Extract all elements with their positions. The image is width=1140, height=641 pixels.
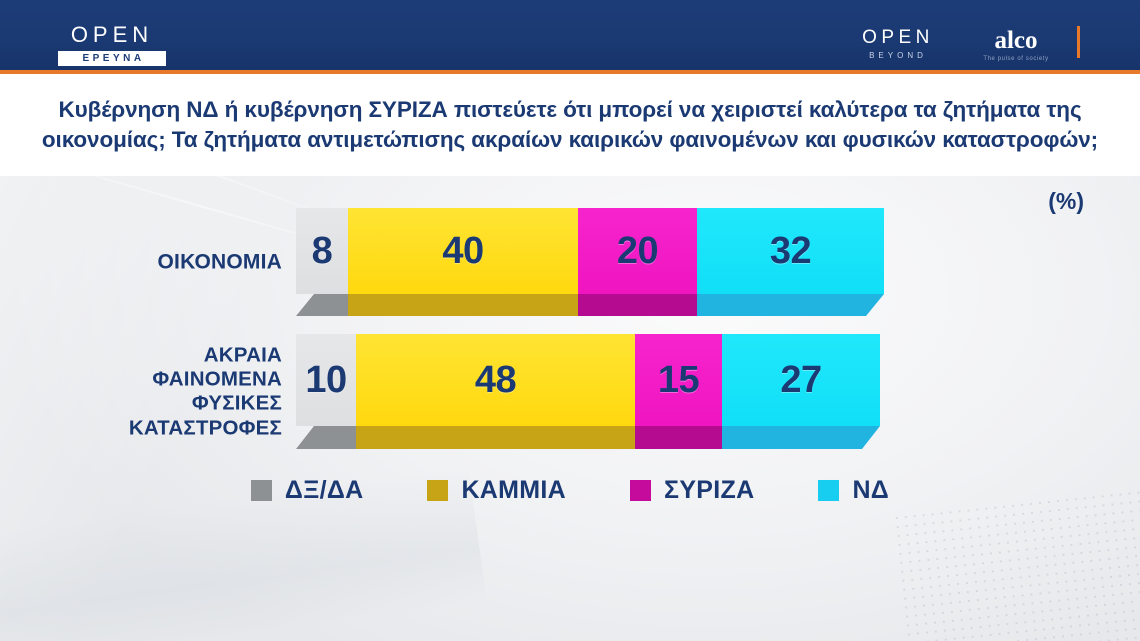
segment-dk-da[interactable]: 10 xyxy=(296,334,356,426)
legend-label: ΣΥΡΙΖΑ xyxy=(664,476,754,505)
segment-syriza[interactable]: 15 xyxy=(635,334,722,426)
segment-value: 10 xyxy=(305,359,346,402)
legend-swatch-icon xyxy=(427,480,448,501)
row-label-line: ΚΑΤΑΣΤΡΟΦΕΣ xyxy=(0,416,282,440)
chart-row: ΟΙΚΟΝΟΜΙΑ 8 40 20 32 xyxy=(0,208,1140,318)
infographic-canvas: OPEN ΕΡΕΥΝΑ OPEN BEYOND alco The pulse o… xyxy=(0,0,1140,641)
alco-tagline: The pulse of society xyxy=(964,56,1068,62)
segment-value: 40 xyxy=(442,230,483,273)
segment-value: 20 xyxy=(617,230,658,273)
segment-3d-face xyxy=(348,294,578,316)
legend-item-nd[interactable]: ΝΔ xyxy=(818,476,889,505)
open-erevna-brand: OPEN xyxy=(58,24,166,46)
segment-kammia[interactable]: 48 xyxy=(356,334,635,426)
legend-item-dk-da[interactable]: ΔΞ/ΔΑ xyxy=(251,476,364,505)
row-label-akraia-fainomena: ΑΚΡΑΙΑ ΦΑΙΝΟΜΕΝΑ ΦΥΣΙΚΕΣ ΚΑΤΑΣΤΡΟΦΕΣ xyxy=(0,344,282,441)
segment-dk-da[interactable]: 8 xyxy=(296,208,348,294)
title-band: Κυβέρνηση ΝΔ ή κυβέρνηση ΣΥΡΙΖΑ πιστεύετ… xyxy=(0,74,1140,176)
legend-label: ΝΔ xyxy=(852,476,889,505)
header-divider xyxy=(1077,26,1080,58)
alco-logo: alco The pulse of society xyxy=(964,28,1068,62)
segment-value: 32 xyxy=(770,230,811,273)
legend-swatch-icon xyxy=(630,480,651,501)
header-bar: OPEN ΕΡΕΥΝΑ OPEN BEYOND alco The pulse o… xyxy=(0,0,1140,70)
segment-syriza[interactable]: 20 xyxy=(578,208,697,294)
bar-akraia-fainomena: 10 48 15 27 xyxy=(296,334,880,426)
segment-value: 15 xyxy=(658,359,699,402)
segment-3d-face xyxy=(722,426,880,449)
legend-item-kammia[interactable]: ΚΑΜΜΙΑ xyxy=(427,476,566,505)
legend-swatch-icon xyxy=(818,480,839,501)
row-label-line: ΦΥΣΙΚΕΣ xyxy=(0,392,282,416)
segment-3d-face xyxy=(356,426,635,449)
bar-oikonomia: 8 40 20 32 xyxy=(296,208,884,294)
segment-3d-face xyxy=(578,294,697,316)
chart-row: ΑΚΡΑΙΑ ΦΑΙΝΟΜΕΝΑ ΦΥΣΙΚΕΣ ΚΑΤΑΣΤΡΟΦΕΣ 10 … xyxy=(0,334,1140,450)
open-beyond-logo: OPEN BEYOND xyxy=(838,28,958,60)
legend-label: ΔΞ/ΔΑ xyxy=(285,476,364,505)
segment-3d-face xyxy=(697,294,884,316)
legend-label: ΚΑΜΜΙΑ xyxy=(461,476,566,505)
open-erevna-logo: OPEN ΕΡΕΥΝΑ xyxy=(58,24,166,66)
row-label-line: ΦΑΙΝΟΜΕΝΑ xyxy=(0,368,282,392)
row-label-line: ΟΙΚΟΝΟΜΙΑ xyxy=(0,251,282,276)
segment-nd[interactable]: 32 xyxy=(697,208,884,294)
legend-swatch-icon xyxy=(251,480,272,501)
open-erevna-sublabel: ΕΡΕΥΝΑ xyxy=(58,51,166,66)
chart-legend: ΔΞ/ΔΑ ΚΑΜΜΙΑ ΣΥΡΙΖΑ ΝΔ xyxy=(0,476,1140,505)
alco-brand: alco xyxy=(964,28,1068,53)
legend-item-syriza[interactable]: ΣΥΡΙΖΑ xyxy=(630,476,754,505)
open-beyond-brand: OPEN xyxy=(838,28,958,47)
segment-kammia[interactable]: 40 xyxy=(348,208,578,294)
segment-nd[interactable]: 27 xyxy=(722,334,880,426)
stacked-bar-chart: (%) ΟΙΚΟΝΟΜΙΑ 8 40 20 xyxy=(0,176,1140,641)
segment-value: 27 xyxy=(780,359,821,402)
page-title: Κυβέρνηση ΝΔ ή κυβέρνηση ΣΥΡΙΖΑ πιστεύετ… xyxy=(40,95,1100,155)
open-beyond-sublabel: BEYOND xyxy=(838,51,958,60)
row-label-line: ΑΚΡΑΙΑ xyxy=(0,344,282,368)
row-label-oikonomia: ΟΙΚΟΝΟΜΙΑ xyxy=(0,251,282,276)
segment-3d-face xyxy=(635,426,722,449)
segment-value: 8 xyxy=(312,230,333,273)
segment-value: 48 xyxy=(475,359,516,402)
